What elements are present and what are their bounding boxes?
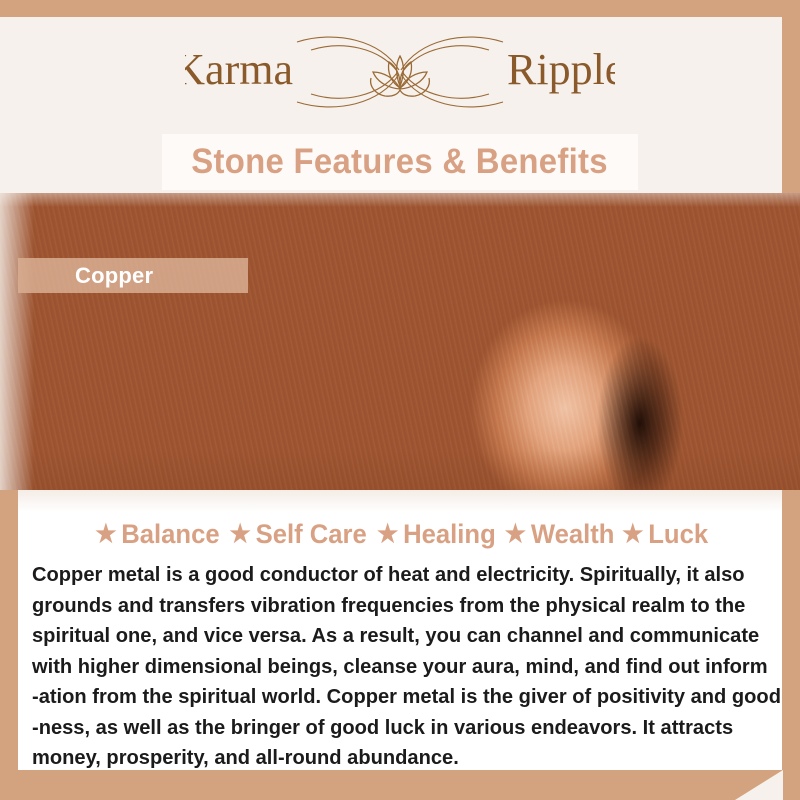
- frame-band-bottom: [0, 770, 800, 800]
- description-line: spiritual one, and vice versa. As a resu…: [32, 621, 757, 652]
- benefit-label: Wealth: [531, 519, 615, 550]
- benefits-list: ★ Balance ★ Self Care ★ Healing ★ Wealth…: [18, 512, 782, 556]
- logo-artwork: Karma Ripple: [185, 26, 615, 118]
- description-line: Copper metal is a good conductor of heat…: [32, 560, 757, 591]
- star-icon: ★: [622, 522, 643, 547]
- stone-name: Copper: [75, 263, 153, 289]
- lotus-icon: [371, 56, 430, 96]
- logo-flourish-icon: [297, 37, 503, 107]
- benefit-item: ★ Luck: [620, 519, 709, 550]
- star-icon: ★: [96, 522, 117, 547]
- star-icon: ★: [377, 522, 398, 547]
- hero-photo-copper-bars: [0, 193, 800, 490]
- section-title-banner: Stone Features & Benefits: [162, 134, 638, 190]
- frame-band-top: [0, 0, 800, 17]
- benefit-item: ★ Self Care: [227, 519, 367, 550]
- brand-logo: Karma Ripple: [0, 22, 800, 122]
- description-line: money, prosperity, and all-round abundan…: [32, 743, 757, 774]
- benefit-item: ★ Balance: [93, 519, 220, 550]
- logo-word-left: Karma: [185, 45, 293, 94]
- hero-photo-surface: [0, 193, 800, 490]
- product-infographic-page: Karma Ripple Stone Features & Benefits C…: [0, 0, 800, 800]
- benefit-label: Self Care: [256, 519, 367, 550]
- content-card: ★ Balance ★ Self Care ★ Healing ★ Wealth…: [18, 490, 782, 770]
- description-line: grounds and transfers vibration frequenc…: [32, 591, 757, 622]
- logo-word-right: Ripple: [507, 45, 615, 94]
- description-line: -ation from the spiritual world. Copper …: [32, 682, 757, 713]
- benefit-label: Healing: [403, 519, 496, 550]
- star-icon: ★: [505, 522, 526, 547]
- description-line: with higher dimensional beings, cleanse …: [32, 652, 757, 683]
- description-line: -ness, as well as the bringer of good lu…: [32, 713, 757, 744]
- content-top-fade: [18, 490, 782, 512]
- benefit-item: ★ Healing: [374, 519, 496, 550]
- frame-corner-notch-bottom-right: [735, 770, 783, 800]
- benefit-item: ★ Wealth: [502, 519, 615, 550]
- stone-name-chip: Copper: [18, 258, 248, 293]
- benefit-label: Luck: [648, 519, 708, 550]
- page-title: Stone Features & Benefits: [192, 142, 609, 182]
- stone-description: Copper metal is a good conductor of heat…: [32, 560, 757, 774]
- star-icon: ★: [230, 522, 251, 547]
- benefit-label: Balance: [122, 519, 220, 550]
